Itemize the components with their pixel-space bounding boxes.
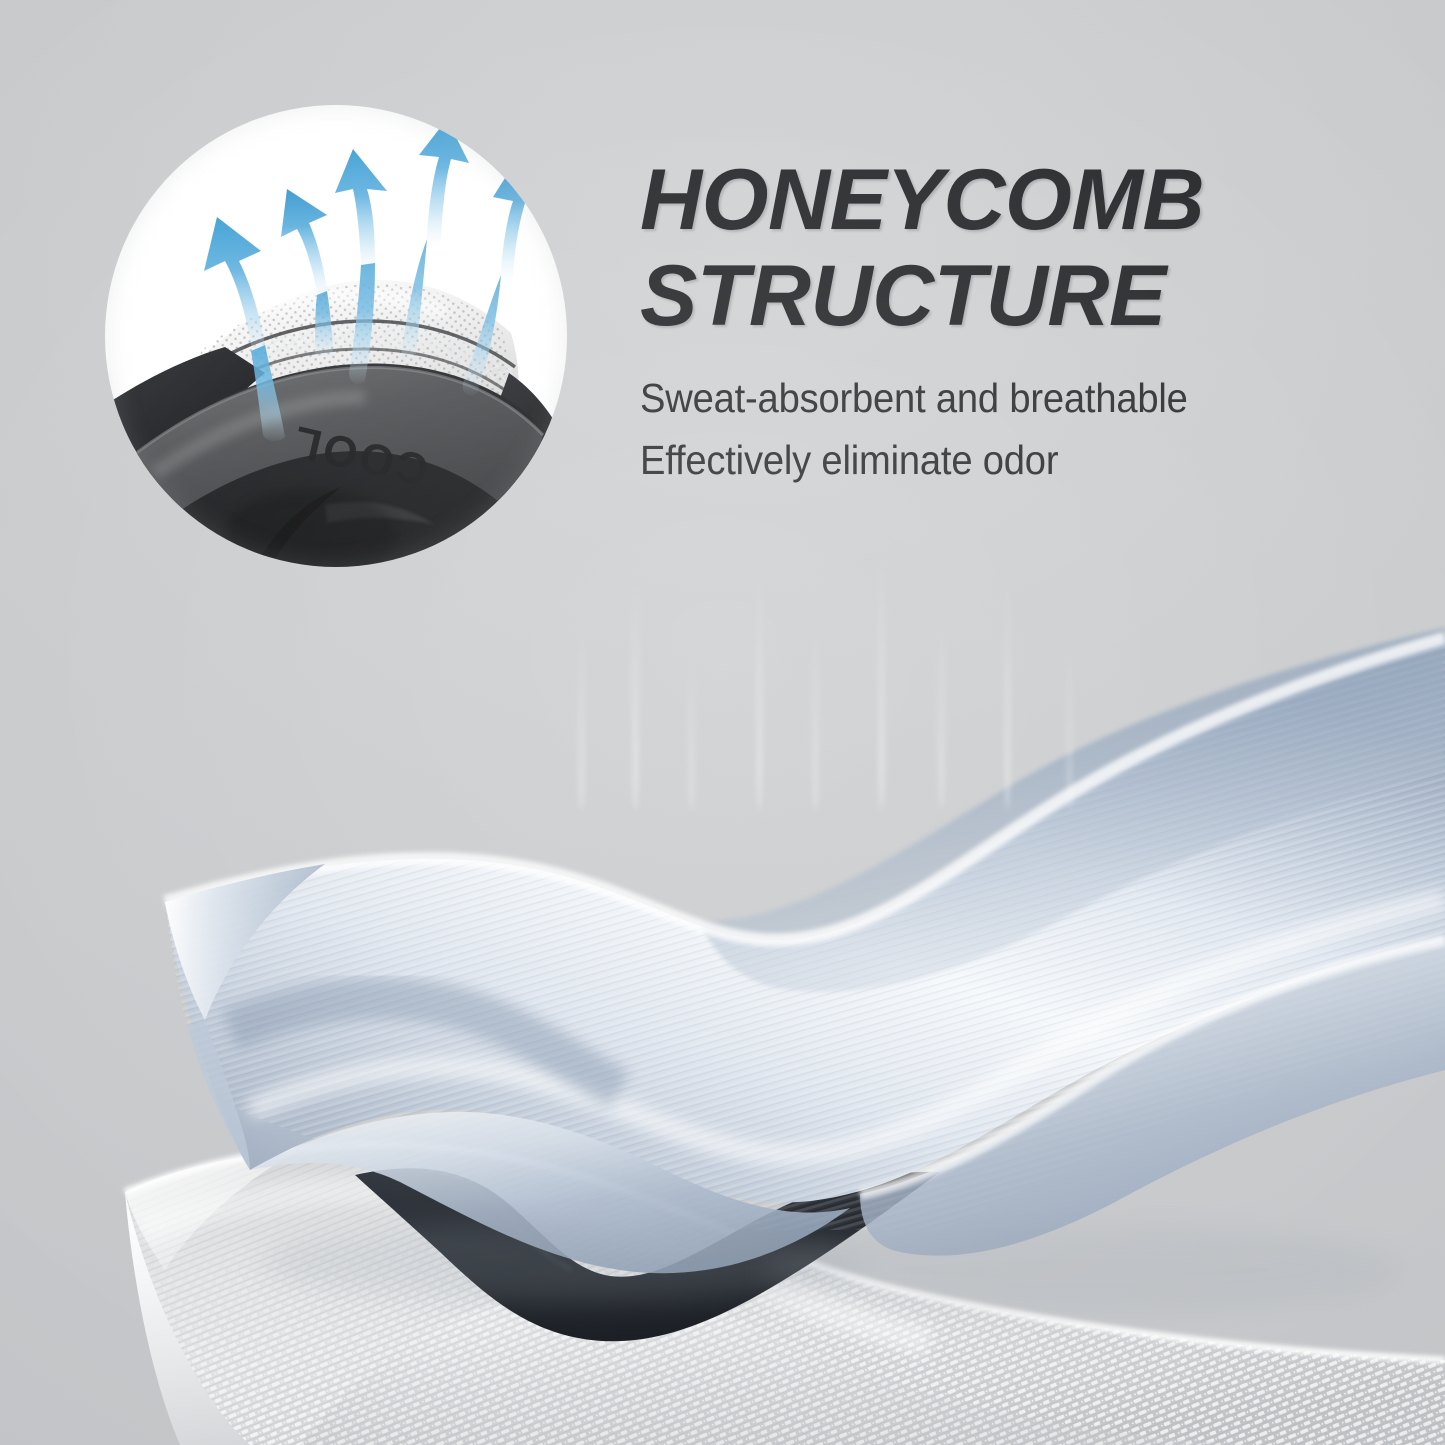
product-feature-banner: COOL	[0, 0, 1445, 1445]
fabric-illustration	[0, 470, 1445, 1445]
headline-line-1: HONEYCOMB	[640, 152, 1400, 248]
headline-line-2: STRUCTURE	[640, 248, 1400, 344]
page-subtitle: Sweat-absorbent and breathable Effective…	[640, 367, 1365, 491]
breathability-detail-photo: COOL	[105, 105, 567, 567]
fabric-wave-graphic	[0, 470, 1445, 1445]
page-title: HONEYCOMB STRUCTURE	[640, 152, 1400, 344]
subtitle-line-1: Sweat-absorbent and breathable	[640, 367, 1365, 429]
subtitle-line-2: Effectively eliminate odor	[640, 429, 1365, 491]
airflow-diagram: COOL	[105, 105, 567, 567]
